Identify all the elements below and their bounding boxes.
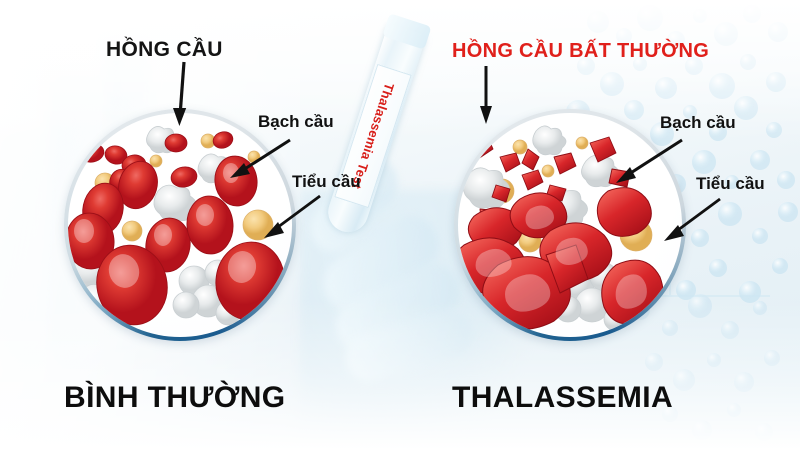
headline-thalassemia: HỒNG CẦU BẤT THƯỜNG (452, 40, 709, 63)
headline-normal: HỒNG CẦU (106, 38, 223, 62)
arrow-to-white-blood-cell-thalassemia (598, 134, 692, 194)
arrow-to-abnormal-red-blood-cell (462, 66, 532, 136)
arrow-to-platelet-thalassemia (650, 195, 736, 253)
arrow-to-platelet-normal (248, 192, 338, 252)
label-platelet-normal: Tiểu cầu (292, 172, 361, 192)
caption-normal: BÌNH THƯỜNG (64, 381, 286, 415)
arrow-to-red-blood-cell-normal (150, 62, 220, 132)
infographic-canvas: Thalassemia Test (0, 0, 800, 450)
label-white-blood-cell-normal: Bạch cầu (258, 112, 334, 132)
caption-thalassemia: THALASSEMIA (452, 381, 673, 415)
arrow-to-white-blood-cell-normal (212, 132, 302, 192)
label-platelet-thalassemia: Tiểu cầu (696, 174, 765, 194)
label-white-blood-cell-thalassemia: Bạch cầu (660, 113, 736, 133)
